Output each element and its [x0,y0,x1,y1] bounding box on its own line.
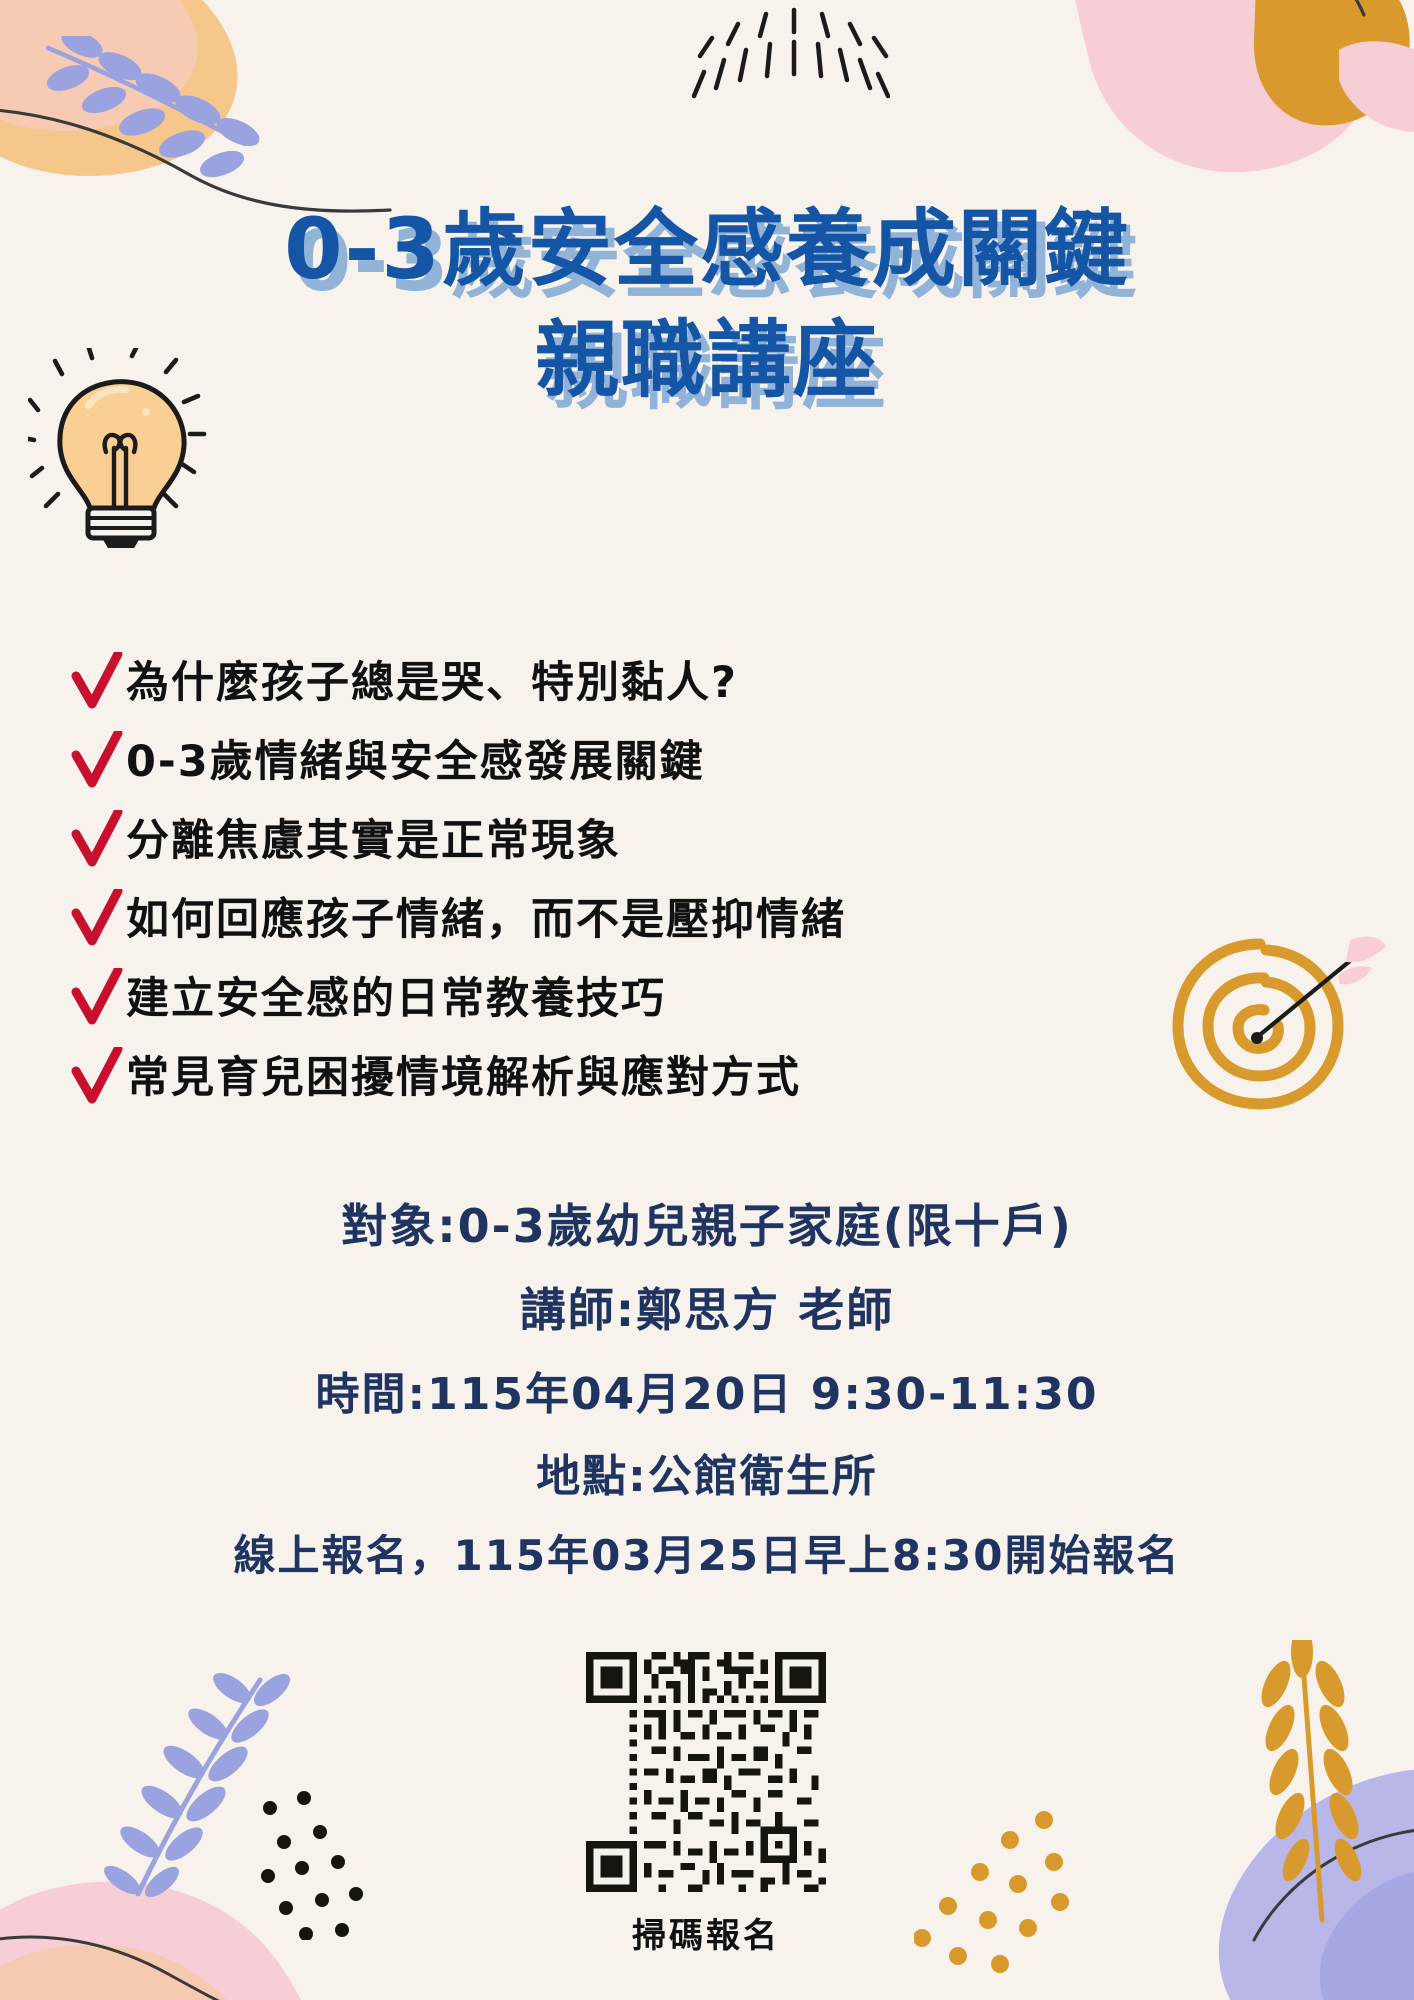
leaf-sprig-icon [40,36,300,196]
title-line-1: 0-3歲安全感養成關鍵 [0,205,1414,294]
leaf-sprig-icon [72,1668,302,1908]
decoration-bottom-right [944,1710,1414,2000]
poster-title: 0-3歲安全感養成關鍵 親職講座 [0,205,1414,405]
list-item: 0-3歲情緒與安全感發展關鍵 [66,731,1246,793]
list-item-label: 分離焦慮其實是正常現象 [126,810,621,872]
qr-code[interactable] [586,1652,826,1892]
wheat-sprig-icon [1210,1640,1390,1930]
list-item: 如何回應孩子情緒，而不是壓抑情緒 [66,889,1246,951]
detail-audience: 對象:0-3歲幼兒親子家庭(限十戶) [0,1190,1414,1256]
dot-cluster-icon [258,1790,398,1940]
list-item: 常見育兒困擾情境解析與應對方式 [66,1047,1246,1109]
check-mark-icon [66,731,126,793]
detail-location: 地點:公館衛生所 [0,1440,1414,1504]
list-item-label: 常見育兒困擾情境解析與應對方式 [126,1047,801,1109]
detail-registration: 線上報名，115年03月25日早上8:30開始報名 [0,1522,1414,1583]
detail-speaker: 講師:鄭思方 老師 [0,1274,1414,1340]
list-item: 為什麼孩子總是哭、特別黏人? [66,652,1246,714]
title-line-2: 親職講座 [0,316,1414,405]
list-item-label: 為什麼孩子總是哭、特別黏人? [126,652,738,714]
check-mark-icon [66,889,126,951]
qr-section: 掃碼報名 [586,1652,826,1957]
check-mark-icon [66,968,126,1030]
check-mark-icon [66,810,126,872]
dot-cluster-icon [914,1810,1074,1980]
detail-time: 時間:115年04月20日 9:30-11:30 [0,1358,1414,1422]
dot-burst-icon [690,0,890,120]
check-mark-icon [66,652,126,714]
list-item-label: 0-3歲情緒與安全感發展關鍵 [126,731,705,793]
event-details: 對象:0-3歲幼兒親子家庭(限十戶) 講師:鄭思方 老師 時間:115年04月2… [0,1190,1414,1601]
list-item-label: 如何回應孩子情緒，而不是壓抑情緒 [126,889,846,951]
check-mark-icon [66,1047,126,1109]
qr-caption: 掃碼報名 [586,1908,826,1957]
checklist: 為什麼孩子總是哭、特別黏人? 0-3歲情緒與安全感發展關鍵 分離焦慮其實是正常現… [66,652,1246,1126]
poster-canvas: 0-3歲安全感養成關鍵 親職講座 [0,0,1414,2000]
decoration-bottom-left [0,1710,410,2000]
list-item: 分離焦慮其實是正常現象 [66,810,1246,872]
list-item: 建立安全感的日常教養技巧 [66,968,1246,1030]
list-item-label: 建立安全感的日常教養技巧 [126,968,666,1030]
